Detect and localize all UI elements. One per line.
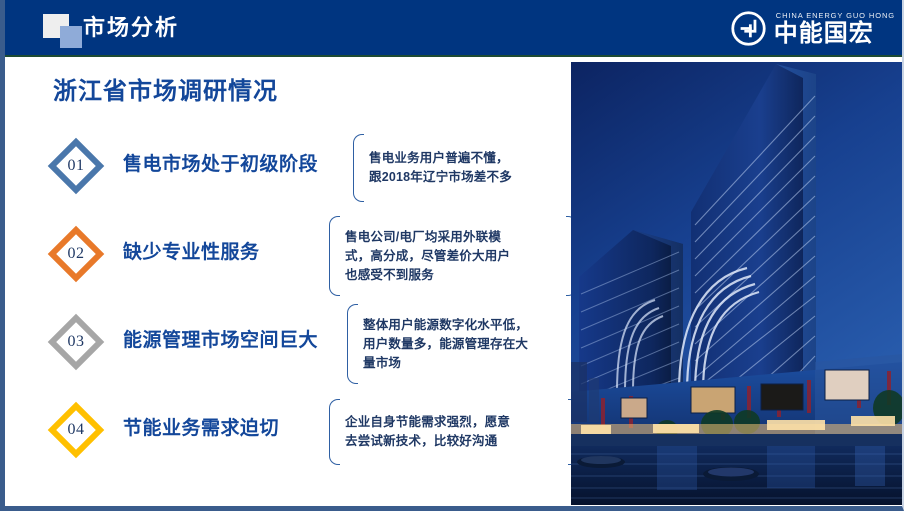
insight-list: 01 售电市场处于初级阶段 售电业务用户普遍不懂， 跟2018年辽宁市场差不多 …	[41, 124, 569, 476]
note-line: 也感受不到服务	[345, 266, 563, 285]
note-line: 售电业务用户普遍不懂，	[369, 149, 587, 168]
insight-note: 整体用户能源数字化水平低， 用户数量多，能源管理存在大 量市场	[347, 304, 595, 384]
note-line: 量市场	[363, 354, 581, 373]
note-line: 跟2018年辽宁市场差不多	[369, 168, 587, 187]
slide-canvas: 市场分析 CHINA ENERGY GUO HONG 中能国宏 浙江省市场调研情…	[0, 0, 904, 511]
building-night-render-image	[571, 62, 903, 505]
diamond-badge-02: 02	[47, 225, 105, 283]
list-item[interactable]: 03 能源管理市场空间巨大 整体用户能源数字化水平低， 用户数量多，能源管理存在…	[41, 300, 569, 388]
note-line: 售电公司/电厂均采用外联模	[345, 228, 563, 247]
diamond-number: 01	[47, 137, 105, 195]
bracket-left	[353, 134, 364, 202]
insight-label: 能源管理市场空间巨大	[123, 328, 318, 354]
page-title: 市场分析	[83, 14, 179, 42]
diamond-number: 02	[47, 225, 105, 283]
diamond-badge-04: 04	[47, 401, 105, 459]
insight-note: 企业自身节能需求强烈，愿意 去尝试新技术，比较好沟通	[329, 399, 579, 465]
bracket-left	[329, 216, 340, 296]
insight-note: 售电业务用户普遍不懂， 跟2018年辽宁市场差不多	[353, 134, 601, 202]
note-line: 整体用户能源数字化水平低，	[363, 316, 581, 335]
decor-square-front	[60, 26, 82, 48]
list-item[interactable]: 01 售电市场处于初级阶段 售电业务用户普遍不懂， 跟2018年辽宁市场差不多	[41, 124, 569, 212]
header-bar: 市场分析 CHINA ENERGY GUO HONG 中能国宏	[5, 0, 904, 57]
list-item[interactable]: 04 节能业务需求迫切 企业自身节能需求强烈，愿意 去尝试新技术，比较好沟通	[41, 388, 569, 476]
note-line: 式，高分成，尽管差价大用户	[345, 247, 563, 266]
diamond-badge-01: 01	[47, 137, 105, 195]
section-title: 浙江省市场调研情况	[53, 76, 278, 108]
diamond-badge-03: 03	[47, 313, 105, 371]
logo-english-name: CHINA ENERGY GUO HONG	[776, 11, 895, 21]
insight-label: 节能业务需求迫切	[123, 416, 279, 442]
insight-note: 售电公司/电厂均采用外联模 式，高分成，尽管差价大用户 也感受不到服务	[329, 216, 577, 296]
diamond-number: 04	[47, 401, 105, 459]
note-line: 用户数量多，能源管理存在大	[363, 335, 581, 354]
bracket-left	[347, 304, 358, 384]
brand-logo: CHINA ENERGY GUO HONG 中能国宏	[730, 7, 895, 50]
list-item[interactable]: 02 缺少专业性服务 售电公司/电厂均采用外联模 式，高分成，尽管差价大用户 也…	[41, 212, 569, 300]
circle-g-logo-icon	[730, 10, 767, 47]
bracket-left	[329, 399, 340, 465]
note-line: 企业自身节能需求强烈，愿意	[345, 413, 565, 432]
insight-label: 售电市场处于初级阶段	[123, 152, 318, 178]
logo-text: CHINA ENERGY GUO HONG 中能国宏	[774, 11, 895, 47]
note-line: 去尝试新技术，比较好沟通	[345, 432, 565, 451]
logo-chinese-name: 中能国宏	[774, 21, 895, 47]
insight-label: 缺少专业性服务	[123, 240, 260, 266]
diamond-number: 03	[47, 313, 105, 371]
